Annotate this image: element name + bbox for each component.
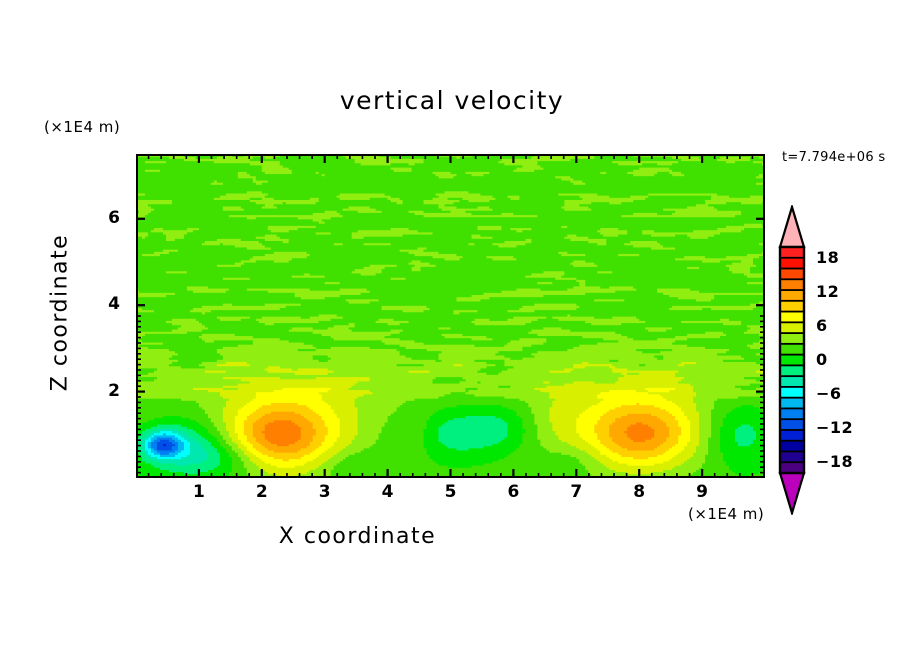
x-tick-label: 5 xyxy=(436,482,466,502)
colorbar-tick-label: 0 xyxy=(816,350,828,369)
z-axis-units: (×1E4 m) xyxy=(44,118,120,136)
colorbar-tick-label: −12 xyxy=(816,418,853,437)
x-axis-label: X coordinate xyxy=(0,524,715,549)
colorbar-swatches xyxy=(770,205,814,515)
x-tick-label: 1 xyxy=(184,482,214,502)
y-tick-label: 6 xyxy=(90,208,120,228)
x-tick-label: 9 xyxy=(687,482,717,502)
colorbar-tick-label: 12 xyxy=(816,282,839,301)
y-tick-label: 2 xyxy=(90,381,120,401)
y-axis-ticks: 246 xyxy=(90,154,130,478)
y-tick-label: 4 xyxy=(90,294,120,314)
colorbar-tick-label: −18 xyxy=(816,452,853,471)
x-tick-label: 6 xyxy=(498,482,528,502)
colorbar-labels: 181260−6−12−18 xyxy=(816,205,886,515)
colorbar-tick-label: 18 xyxy=(816,248,839,267)
colorbar-tick-label: 6 xyxy=(816,316,828,335)
time-annotation: t=7.794e+06 s xyxy=(782,150,885,165)
x-axis-ticks: 123456789 xyxy=(136,482,765,508)
x-tick-label: 4 xyxy=(373,482,403,502)
velocity-field xyxy=(136,154,765,478)
colorbar xyxy=(770,205,814,515)
x-tick-label: 8 xyxy=(624,482,654,502)
colorbar-tick-label: −6 xyxy=(816,384,842,403)
y-axis-label: Z coordinate xyxy=(48,193,73,433)
x-tick-label: 3 xyxy=(310,482,340,502)
x-tick-label: 7 xyxy=(561,482,591,502)
x-tick-label: 2 xyxy=(247,482,277,502)
contour-plot-area xyxy=(136,154,765,478)
chart-title: vertical velocity xyxy=(0,86,904,115)
